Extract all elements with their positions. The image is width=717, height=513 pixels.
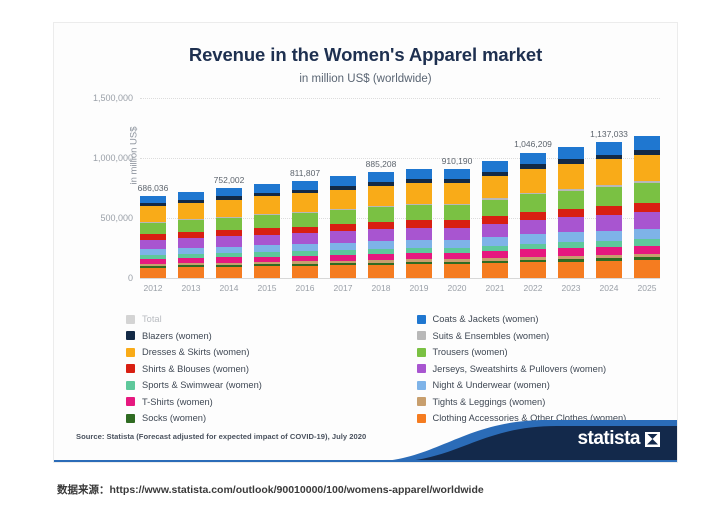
bar-segment[interactable] xyxy=(634,183,660,203)
bar-value-label: 1,137,033 xyxy=(590,129,628,139)
legend-column-right: Coats & Jackets (women)Suits & Ensembles… xyxy=(399,311,672,427)
bar-segment[interactable] xyxy=(178,203,204,219)
bar-segment[interactable] xyxy=(558,248,584,256)
bar-segment[interactable] xyxy=(444,183,470,204)
bar-segment[interactable] xyxy=(634,203,660,213)
legend-item-label: Trousers (women) xyxy=(433,347,508,357)
x-axis-tick-label: 2016 xyxy=(292,283,318,293)
x-axis-tick-label: 2015 xyxy=(254,283,280,293)
legend-color-swatch xyxy=(417,348,426,357)
x-axis-tick-labels: 2012201320142015201620172018201920202021… xyxy=(140,283,660,293)
bar-segment[interactable] xyxy=(406,264,432,278)
bar-segment[interactable] xyxy=(368,229,394,241)
legend-item[interactable]: Night & Underwear (women) xyxy=(417,377,672,394)
y-axis-tick-label: 1,500,000 xyxy=(93,93,133,103)
bar-segment[interactable] xyxy=(216,236,242,246)
stacked-bar[interactable] xyxy=(444,169,470,278)
bar-segment[interactable] xyxy=(520,169,546,193)
legend-item-label: Dresses & Skirts (women) xyxy=(142,347,249,357)
bar-segment[interactable] xyxy=(444,228,470,240)
bar-segment[interactable] xyxy=(444,205,470,220)
stacked-bar[interactable] xyxy=(406,169,432,278)
bar-segment[interactable] xyxy=(596,231,622,241)
bar-segment[interactable] xyxy=(368,241,394,249)
bar-segment[interactable] xyxy=(406,228,432,240)
legend-item-label: Total xyxy=(142,314,162,324)
stacked-bar[interactable] xyxy=(558,147,584,278)
chart-title: Revenue in the Women's Apparel market xyxy=(54,44,677,66)
x-axis-line xyxy=(140,278,660,279)
bar-segment[interactable] xyxy=(292,244,318,251)
source-caption: 数据来源：https://www.statista.com/outlook/90… xyxy=(57,482,484,497)
x-axis-tick-label: 2025 xyxy=(634,283,660,293)
legend-item[interactable]: Jerseys, Sweatshirts & Pullovers (women) xyxy=(417,361,672,378)
bar-segment[interactable] xyxy=(558,147,584,159)
x-axis-tick-label: 2020 xyxy=(444,283,470,293)
bar-segment[interactable] xyxy=(178,267,204,278)
bar-column[interactable]: 752,002 xyxy=(216,98,242,278)
bar-column[interactable]: 1,137,033 xyxy=(596,98,622,278)
bar-segment[interactable] xyxy=(140,268,166,278)
legend-item-label: Shirts & Blouses (women) xyxy=(142,364,249,374)
bar-segment[interactable] xyxy=(292,266,318,278)
legend-item[interactable]: Blazers (women) xyxy=(126,328,399,345)
bar-value-label: 885,208 xyxy=(366,159,397,169)
source-note: Source: Statista (Forecast adjusted for … xyxy=(76,432,366,441)
bar-series-group: 686,036752,002811,807885,208910,1901,046… xyxy=(140,98,660,278)
chart-subtitle: in million US$ (worldwide) xyxy=(54,73,677,85)
bar-segment[interactable] xyxy=(140,223,166,234)
bar-column[interactable]: 885,208 xyxy=(368,98,394,278)
bar-segment[interactable] xyxy=(482,263,508,278)
bar-segment[interactable] xyxy=(330,243,356,251)
bar-segment[interactable] xyxy=(634,155,660,182)
bar-segment[interactable] xyxy=(178,192,204,200)
bar-segment[interactable] xyxy=(444,240,470,248)
stacked-bar[interactable] xyxy=(216,188,242,278)
x-axis-tick-label: 2014 xyxy=(216,283,242,293)
bar-column[interactable]: 811,807 xyxy=(292,98,318,278)
bar-segment[interactable] xyxy=(406,169,432,179)
x-axis-tick-label: 2022 xyxy=(520,283,546,293)
legend-color-swatch xyxy=(126,364,135,373)
bar-segment[interactable] xyxy=(254,196,280,214)
bar-segment[interactable] xyxy=(520,153,546,165)
bar-segment[interactable] xyxy=(558,217,584,232)
bar-segment[interactable] xyxy=(634,246,660,254)
bar-segment[interactable] xyxy=(482,224,508,237)
bar-segment[interactable] xyxy=(330,265,356,278)
bar-segment[interactable] xyxy=(406,183,432,204)
stacked-bar[interactable] xyxy=(634,136,660,278)
bar-segment[interactable] xyxy=(406,205,432,220)
bar-segment[interactable] xyxy=(596,206,622,215)
statista-logo: statista xyxy=(577,428,660,450)
caption-url[interactable]: https://www.statista.com/outlook/9001000… xyxy=(110,484,484,496)
bar-segment[interactable] xyxy=(520,262,546,278)
bar-value-label: 910,190 xyxy=(442,156,473,166)
legend-item-label: T-Shirts (women) xyxy=(142,397,213,407)
bar-value-label: 811,807 xyxy=(290,168,320,178)
stacked-bar[interactable] xyxy=(292,181,318,278)
x-axis-tick-label: 2019 xyxy=(406,283,432,293)
bar-segment[interactable] xyxy=(482,237,508,246)
bar-segment[interactable] xyxy=(558,232,584,242)
bar-segment[interactable] xyxy=(520,194,546,211)
bar-segment[interactable] xyxy=(216,267,242,278)
stacked-bar[interactable] xyxy=(520,152,546,278)
bar-column[interactable] xyxy=(406,98,432,278)
bar-segment[interactable] xyxy=(444,169,470,179)
legend-item-label: Coats & Jackets (women) xyxy=(433,314,539,324)
bar-segment[interactable] xyxy=(368,207,394,222)
legend-item[interactable]: Tights & Leggings (women) xyxy=(417,394,672,411)
bar-segment[interactable] xyxy=(520,249,546,256)
bar-segment[interactable] xyxy=(330,231,356,243)
x-axis-tick-label: 2021 xyxy=(482,283,508,293)
bar-segment[interactable] xyxy=(596,215,622,231)
bar-segment[interactable] xyxy=(444,264,470,278)
legend-item[interactable]: Suits & Ensembles (women) xyxy=(417,328,672,345)
bar-column[interactable] xyxy=(558,98,584,278)
bar-segment[interactable] xyxy=(558,191,584,209)
bar-segment[interactable] xyxy=(292,233,318,244)
bar-segment[interactable] xyxy=(444,220,470,227)
bar-segment[interactable] xyxy=(254,184,280,193)
bar-segment[interactable] xyxy=(482,216,508,224)
legend-item[interactable]: Total xyxy=(126,311,399,328)
bar-segment[interactable] xyxy=(178,220,204,232)
screenshot-root: Revenue in the Women's Apparel market in… xyxy=(0,0,717,513)
y-axis-tick-label: 500,000 xyxy=(100,213,133,223)
stacked-bar[interactable] xyxy=(330,176,356,278)
bar-segment[interactable] xyxy=(330,210,356,224)
statista-wordmark: statista xyxy=(577,428,640,450)
bar-segment[interactable] xyxy=(520,220,546,234)
bar-segment[interactable] xyxy=(140,196,166,204)
bar-segment[interactable] xyxy=(558,209,584,218)
bar-segment[interactable] xyxy=(292,181,318,190)
bar-segment[interactable] xyxy=(634,260,660,278)
y-axis-tick-label: 1,000,000 xyxy=(93,153,133,163)
y-axis-tick-label: 0 xyxy=(128,273,133,283)
bar-segment[interactable] xyxy=(216,188,242,196)
x-axis-tick-label: 2018 xyxy=(368,283,394,293)
statista-chart-card: Revenue in the Women's Apparel market in… xyxy=(53,22,678,463)
legend-item-label: Blazers (women) xyxy=(142,331,212,341)
legend-item-label: Suits & Ensembles (women) xyxy=(433,331,550,341)
bar-segment[interactable] xyxy=(330,224,356,231)
x-axis-tick-label: 2023 xyxy=(558,283,584,293)
bar-value-label: 752,002 xyxy=(214,175,245,185)
legend-color-swatch xyxy=(417,364,426,373)
bar-segment[interactable] xyxy=(368,222,394,229)
plot-area: in million US$ 0500,0001,000,0001,500,00… xyxy=(140,98,660,278)
bar-segment[interactable] xyxy=(406,240,432,248)
legend-color-swatch xyxy=(417,331,426,340)
bar-segment[interactable] xyxy=(634,212,660,228)
x-axis-tick-label: 2024 xyxy=(596,283,622,293)
chart-footer: Source: Statista (Forecast adjusted for … xyxy=(54,416,677,462)
bar-value-label: 1,046,209 xyxy=(514,139,552,149)
bar-segment[interactable] xyxy=(140,240,166,249)
legend-item[interactable]: Sports & Swimwear (women) xyxy=(126,377,399,394)
stacked-bar[interactable] xyxy=(368,172,394,278)
stacked-bar[interactable] xyxy=(178,192,204,278)
legend-color-swatch xyxy=(126,331,135,340)
legend-color-swatch xyxy=(126,348,135,357)
legend-color-swatch xyxy=(126,315,135,324)
bar-segment[interactable] xyxy=(558,164,584,189)
bar-segment[interactable] xyxy=(368,265,394,278)
bar-segment[interactable] xyxy=(634,229,660,240)
x-axis-tick-label: 2017 xyxy=(330,283,356,293)
bar-segment[interactable] xyxy=(596,159,622,185)
bar-segment[interactable] xyxy=(254,215,280,228)
bar-segment[interactable] xyxy=(482,200,508,216)
chart-legend: TotalBlazers (women)Dresses & Skirts (wo… xyxy=(126,311,671,427)
bar-segment[interactable] xyxy=(596,187,622,206)
legend-color-swatch xyxy=(126,397,135,406)
bar-segment[interactable] xyxy=(596,247,622,255)
bar-segment[interactable] xyxy=(520,234,546,244)
legend-color-swatch xyxy=(417,315,426,324)
bar-segment[interactable] xyxy=(520,212,546,220)
caption-prefix: 数据来源： xyxy=(57,484,110,496)
bar-segment[interactable] xyxy=(406,220,432,227)
stacked-bar[interactable] xyxy=(140,196,166,278)
bar-segment[interactable] xyxy=(292,193,318,211)
bar-segment[interactable] xyxy=(178,238,204,248)
bar-segment[interactable] xyxy=(140,206,166,222)
bar-column[interactable] xyxy=(482,98,508,278)
bar-segment[interactable] xyxy=(216,200,242,217)
bar-segment[interactable] xyxy=(330,190,356,209)
legend-item[interactable]: Coats & Jackets (women) xyxy=(417,311,672,328)
legend-item[interactable]: Dresses & Skirts (women) xyxy=(126,344,399,361)
bar-column[interactable] xyxy=(254,98,280,278)
bar-segment[interactable] xyxy=(482,251,508,258)
legend-item[interactable]: Trousers (women) xyxy=(417,344,672,361)
footer-rule xyxy=(54,460,677,462)
bar-column[interactable] xyxy=(330,98,356,278)
bar-value-label: 686,036 xyxy=(138,183,169,193)
bar-segment[interactable] xyxy=(216,247,242,254)
stacked-bar[interactable] xyxy=(254,184,280,278)
bar-segment[interactable] xyxy=(254,235,280,246)
stacked-bar[interactable] xyxy=(596,142,622,278)
bar-segment[interactable] xyxy=(482,161,508,172)
bar-column[interactable] xyxy=(178,98,204,278)
legend-column-left: TotalBlazers (women)Dresses & Skirts (wo… xyxy=(126,311,399,427)
stacked-bar[interactable] xyxy=(482,161,508,278)
x-axis-tick-label: 2013 xyxy=(178,283,204,293)
legend-color-swatch xyxy=(417,381,426,390)
bar-segment[interactable] xyxy=(216,218,242,230)
bar-segment[interactable] xyxy=(368,172,394,182)
bar-segment[interactable] xyxy=(634,136,660,149)
legend-item[interactable]: T-Shirts (women) xyxy=(126,394,399,411)
statista-logo-mark-icon xyxy=(645,432,660,447)
legend-item-label: Tights & Leggings (women) xyxy=(433,397,546,407)
bar-segment[interactable] xyxy=(292,213,318,226)
bar-column[interactable]: 686,036 xyxy=(140,98,166,278)
bar-segment[interactable] xyxy=(254,245,280,252)
bar-segment[interactable] xyxy=(330,176,356,186)
legend-color-swatch xyxy=(126,381,135,390)
legend-color-swatch xyxy=(417,397,426,406)
x-axis-tick-label: 2012 xyxy=(140,283,166,293)
bar-segment[interactable] xyxy=(558,262,584,278)
bar-segment[interactable] xyxy=(596,142,622,155)
bar-column[interactable]: 910,190 xyxy=(444,98,470,278)
bar-segment[interactable] xyxy=(254,266,280,278)
bar-segment[interactable] xyxy=(368,186,394,206)
legend-item-label: Jerseys, Sweatshirts & Pullovers (women) xyxy=(433,364,607,374)
bar-column[interactable] xyxy=(634,98,660,278)
bar-segment[interactable] xyxy=(482,176,508,198)
bar-column[interactable]: 1,046,209 xyxy=(520,98,546,278)
legend-item[interactable]: Shirts & Blouses (women) xyxy=(126,361,399,378)
legend-item-label: Night & Underwear (women) xyxy=(433,380,550,390)
bar-segment[interactable] xyxy=(596,261,622,278)
legend-item-label: Sports & Swimwear (women) xyxy=(142,380,262,390)
